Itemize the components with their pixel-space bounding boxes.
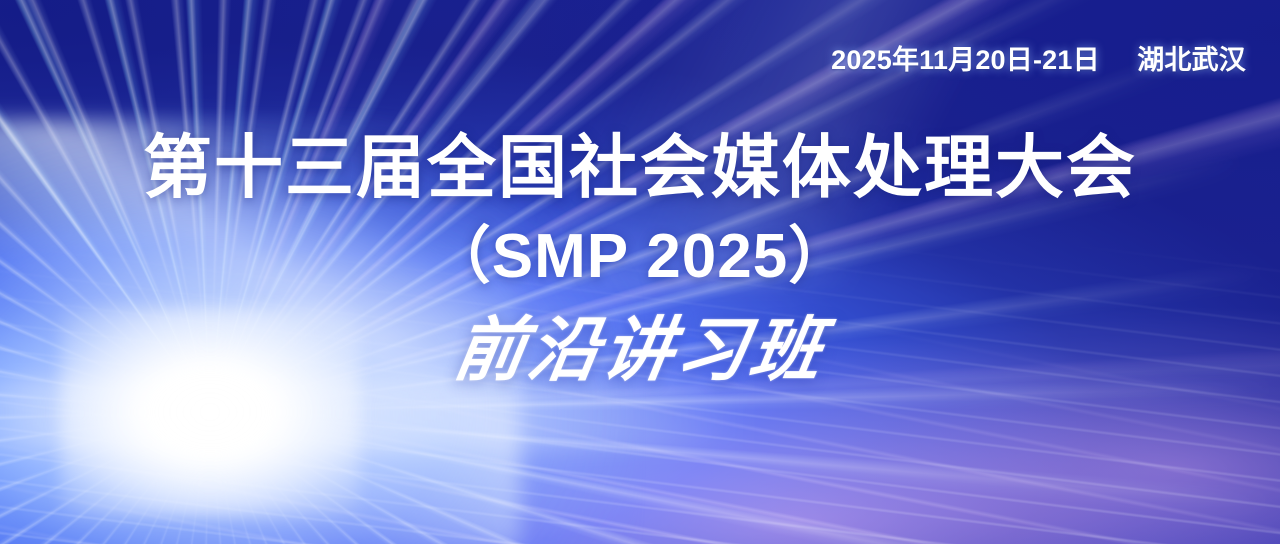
smp-2025-banner: 2025年11月20日-21日 湖北武汉 第十三届全国社会媒体处理大会 （SMP… (0, 0, 1280, 544)
event-meta-line: 2025年11月20日-21日 湖北武汉 (831, 38, 1246, 77)
conference-title-main: 第十三届全国社会媒体处理大会 (0, 132, 1280, 204)
event-date: 2025年11月20日-21日 (831, 45, 1100, 75)
conference-title-acronym: （SMP 2025） (0, 224, 1280, 289)
event-location: 湖北武汉 (1137, 45, 1246, 75)
conference-title-course: 前沿讲习班 (0, 314, 1280, 388)
banner-text-layer: 2025年11月20日-21日 湖北武汉 第十三届全国社会媒体处理大会 （SMP… (0, 0, 1280, 544)
